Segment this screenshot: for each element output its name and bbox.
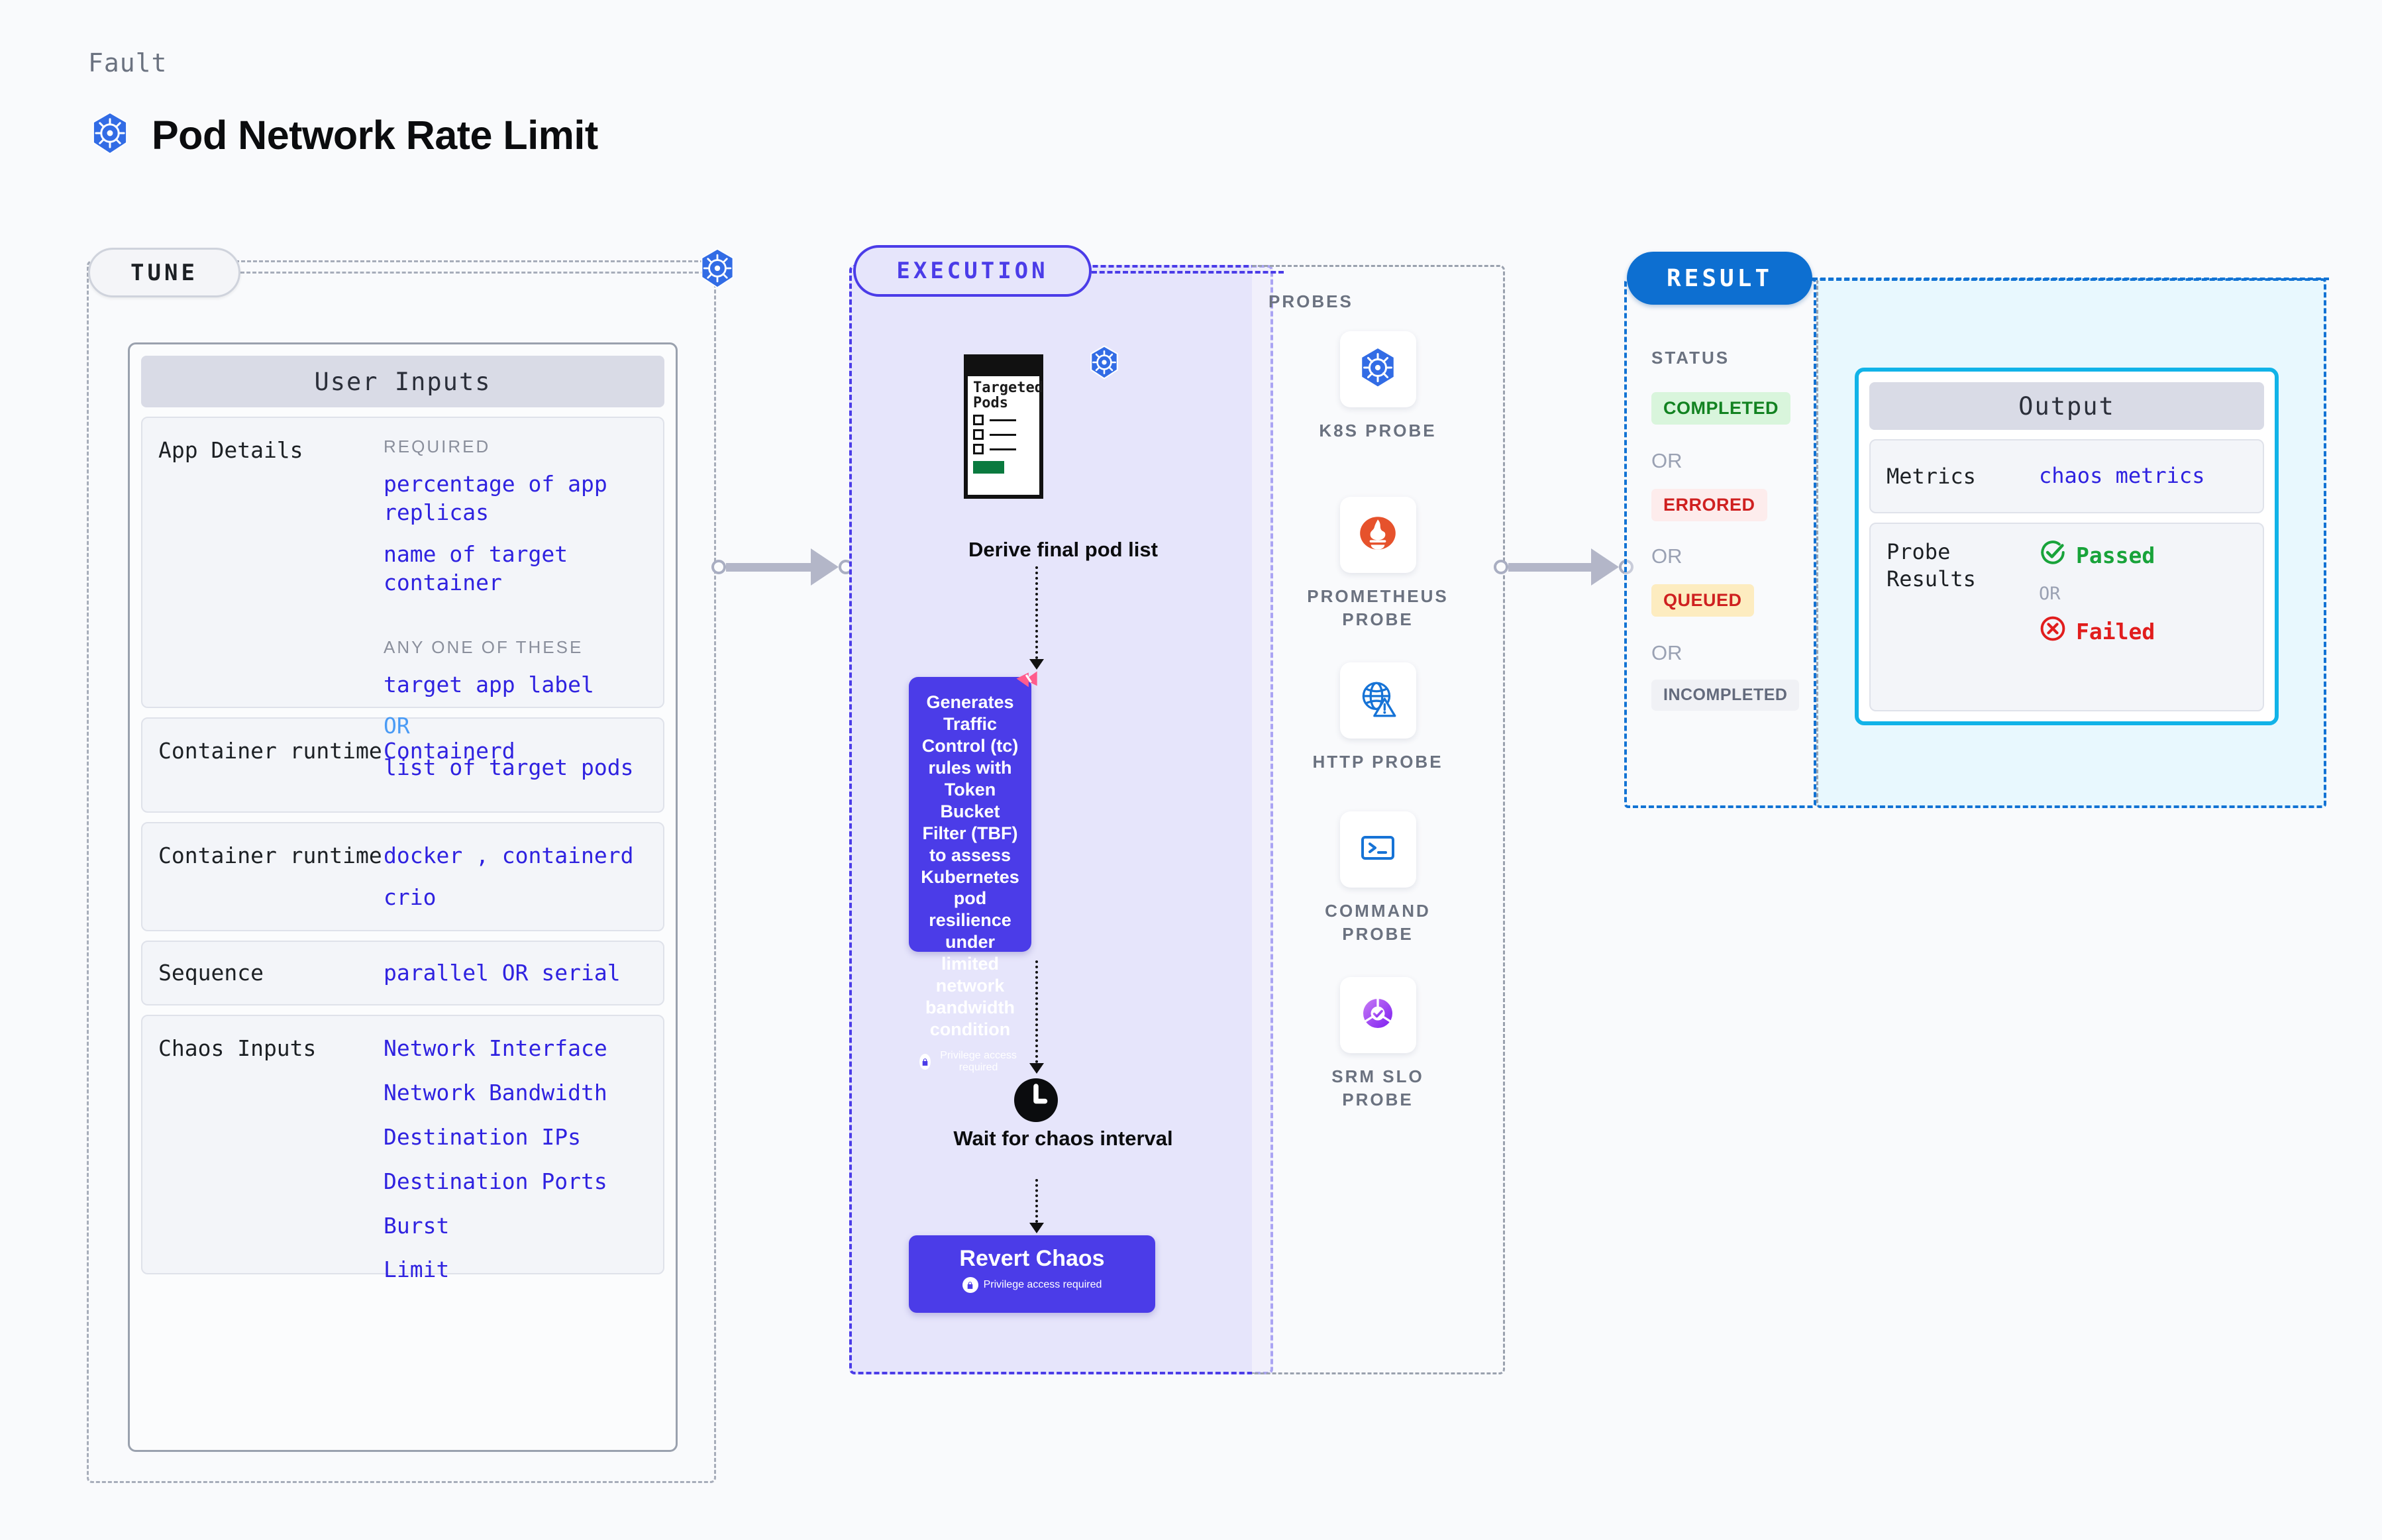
probe-label: HTTP PROBE: [1295, 750, 1461, 774]
kubernetes-icon: [88, 111, 132, 158]
output-row-probe-results: Probe Results Passed OR: [1869, 523, 2264, 711]
probe-result-or: OR: [2039, 584, 2247, 604]
doc-line: [990, 434, 1016, 436]
terminal-icon: [1357, 827, 1399, 872]
wait-caption: Wait for chaos interval: [888, 1126, 1239, 1151]
probe-label: SRM SLO PROBE: [1295, 1065, 1461, 1111]
row-container-runtime-2: Container runtime docker , containerd cr…: [141, 822, 664, 931]
page-title: Pod Network Rate Limit: [152, 112, 598, 158]
probe-tile: [1340, 662, 1416, 739]
result-connector-line: [1812, 278, 2329, 280]
row-label: Metrics: [1887, 463, 2039, 490]
probe-item-srm-slo[interactable]: SRM SLO PROBE: [1295, 977, 1461, 1111]
row-label: Chaos Inputs: [158, 1035, 384, 1255]
row-values: parallel OR serial: [384, 959, 647, 988]
connector-execution-to-result: [1494, 548, 1633, 586]
clock-icon: [1012, 1076, 1060, 1127]
value-item: percentage of app replicas: [384, 470, 647, 527]
lock-icon: [919, 1054, 931, 1070]
derive-pod-list-caption: Derive final pod list: [888, 538, 1239, 562]
doc-green-bar: [973, 461, 1004, 474]
status-badge-incompleted: INCOMPLETED: [1651, 680, 1799, 711]
row-sequence: Sequence parallel OR serial: [141, 941, 664, 1005]
connector-arrowhead: [1591, 548, 1619, 586]
value-item: Network Interface: [384, 1035, 647, 1063]
status-section-label: STATUS: [1651, 348, 1730, 368]
meta-any-one: ANY ONE OF THESE: [384, 637, 647, 658]
row-label: Container runtime: [158, 842, 384, 911]
result-pill-label: RESULT: [1627, 252, 1812, 305]
litmus-logo-icon: [1013, 668, 1042, 700]
doc-line: [990, 448, 1016, 450]
probe-item-k8s[interactable]: K8S PROBE: [1295, 331, 1461, 442]
probe-result-passed: Passed: [2039, 539, 2247, 572]
value-item: docker , containerd: [384, 842, 647, 870]
value-item: Burst: [384, 1212, 647, 1241]
check-circle-icon: [2039, 539, 2067, 572]
fault-diagram-page: Fault Pod Network Rate Limit TUNE: [0, 0, 2382, 1540]
probe-tile: [1340, 497, 1416, 573]
row-values: chaos metrics: [2039, 462, 2247, 490]
kubernetes-icon: [697, 248, 738, 292]
row-values: Network Interface Network Bandwidth Dest…: [384, 1035, 647, 1255]
doc-line: [990, 419, 1016, 421]
connector-arrowhead: [811, 548, 839, 586]
kubernetes-icon: [1087, 345, 1121, 383]
eyebrow-label: Fault: [88, 48, 167, 77]
privilege-note-row: Privilege access required: [909, 1277, 1155, 1293]
probe-item-command[interactable]: COMMAND PROBE: [1295, 811, 1461, 946]
doc-checkbox-row: [968, 429, 1039, 440]
checkbox-icon: [973, 415, 984, 425]
privilege-note: Privilege access required: [984, 1279, 1102, 1291]
probe-tile: [1340, 811, 1416, 888]
probe-item-prometheus[interactable]: PROMETHEUS PROBE: [1295, 497, 1461, 631]
privilege-note: Privilege access required: [936, 1050, 1021, 1074]
output-row-metrics: Metrics chaos metrics: [1869, 439, 2264, 513]
value-item: Containerd: [384, 737, 647, 766]
targeted-pods-doc-icon: Targeted Pods: [964, 354, 1043, 499]
value-item: name of target container: [384, 540, 647, 597]
flow-arrowhead-3: [1029, 1223, 1044, 1233]
value-item: Limit: [384, 1256, 647, 1284]
value-item: Destination IPs: [384, 1123, 647, 1152]
probes-section-label: PROBES: [1269, 291, 1353, 312]
flow-arrowhead-2: [1029, 1063, 1044, 1074]
row-label: Container runtime: [158, 737, 384, 793]
flow-arrow-3: [1035, 1179, 1038, 1223]
execution-pill-label: EXECUTION: [853, 245, 1092, 297]
connector-dot: [1494, 560, 1508, 574]
doc-checkbox-row: [968, 415, 1039, 425]
probe-tile: [1340, 977, 1416, 1053]
prometheus-icon: [1356, 511, 1400, 558]
value-item: chaos metrics: [2039, 462, 2247, 490]
revert-chaos-title: Revert Chaos: [909, 1246, 1155, 1272]
doc-top-bar: [968, 358, 1039, 376]
value-item: target app label: [384, 671, 647, 699]
row-app-details: App Details REQUIRED percentage of app r…: [141, 417, 664, 708]
kubernetes-icon: [1356, 346, 1400, 393]
status-badge-completed: COMPLETED: [1651, 392, 1790, 425]
status-or-2: OR: [1651, 544, 1683, 568]
x-circle-icon: [2039, 615, 2067, 648]
value-or: OR: [384, 712, 647, 741]
globe-warning-icon: [1356, 677, 1400, 724]
probe-failed-label: Failed: [2076, 619, 2155, 644]
row-values: Passed OR Failed: [2039, 539, 2247, 695]
value-item: crio: [384, 884, 647, 912]
row-values: Containerd: [384, 737, 647, 793]
flow-arrow-2: [1035, 960, 1038, 1063]
meta-required: REQUIRED: [384, 436, 647, 457]
row-label: Probe Results: [1887, 539, 2039, 695]
status-or-3: OR: [1651, 641, 1683, 665]
status-or-1: OR: [1651, 449, 1683, 473]
revert-chaos-box: Revert Chaos Privilege access required: [909, 1235, 1155, 1313]
row-label: Sequence: [158, 959, 384, 987]
row-label: App Details: [158, 436, 384, 688]
value-item: Destination Ports: [384, 1168, 647, 1196]
checkbox-icon: [973, 429, 984, 440]
chaos-description-text: Generates Traffic Control (tc) rules wit…: [919, 692, 1021, 1041]
probe-item-http[interactable]: HTTP PROBE: [1295, 662, 1461, 774]
srm-slo-icon: [1357, 992, 1399, 1038]
value-item: parallel OR serial: [384, 959, 647, 988]
connector-stem: [726, 563, 811, 572]
tune-pill-label: TUNE: [88, 248, 240, 297]
tune-connector-line: [240, 272, 711, 274]
row-chaos-inputs: Chaos Inputs Network Interface Network B…: [141, 1015, 664, 1274]
privilege-note-row: Privilege access required: [919, 1050, 1021, 1074]
user-inputs-card: User Inputs App Details REQUIRED percent…: [128, 342, 678, 1452]
execution-connector-line: [1092, 271, 1284, 274]
row-values: docker , containerd crio: [384, 842, 647, 911]
flow-arrow-1: [1035, 566, 1038, 659]
status-badge-queued: QUEUED: [1651, 584, 1754, 617]
connector-stem: [1508, 563, 1591, 572]
probe-passed-label: Passed: [2076, 542, 2155, 568]
page-title-row: Pod Network Rate Limit: [88, 111, 598, 158]
row-values: REQUIRED percentage of app replicas name…: [384, 436, 647, 688]
probe-label: COMMAND PROBE: [1295, 899, 1461, 946]
probe-tile: [1340, 331, 1416, 407]
status-badge-errored: ERRORED: [1651, 489, 1767, 521]
probe-label: PROMETHEUS PROBE: [1295, 585, 1461, 631]
chaos-description-box: Generates Traffic Control (tc) rules wit…: [909, 677, 1031, 952]
user-inputs-title: User Inputs: [141, 356, 664, 407]
probe-label: K8S PROBE: [1295, 419, 1461, 442]
targeted-pods-title: Targeted Pods: [968, 376, 1039, 411]
value-item: Network Bandwidth: [384, 1079, 647, 1107]
probe-result-failed: Failed: [2039, 615, 2247, 648]
lock-icon: [962, 1277, 978, 1293]
connector-dot: [711, 560, 726, 574]
output-card-title: Output: [1869, 382, 2264, 430]
output-card: Output Metrics chaos metrics Probe Resul…: [1855, 368, 2279, 725]
connector-tune-to-execution: [711, 548, 853, 586]
doc-checkbox-row: [968, 444, 1039, 454]
checkbox-icon: [973, 444, 984, 454]
